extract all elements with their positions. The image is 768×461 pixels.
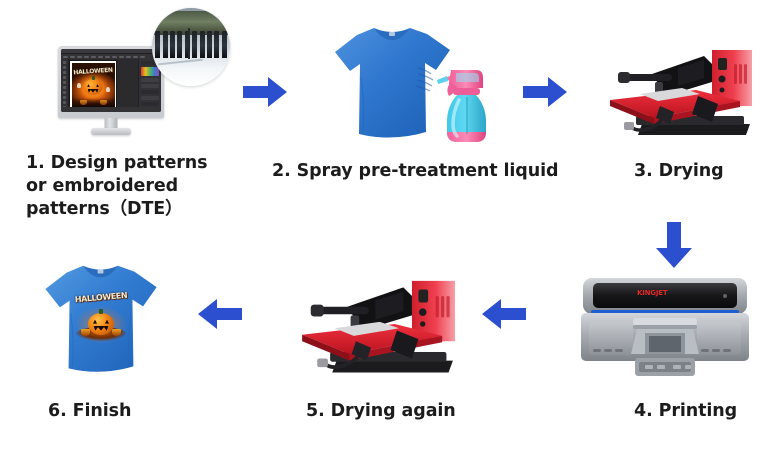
- embroidery-machine-photo: [152, 8, 230, 86]
- step-4-caption: 4. Printing: [634, 400, 764, 423]
- printer-brand-logo: KINGJET: [637, 289, 667, 297]
- step-1-monitor: ︿ ︿ HALLOWEEN: [58, 46, 164, 136]
- step-4-dtg-printer: KINGJET: [575, 270, 755, 384]
- step-1-caption: 1. Design patterns or embroidered patter…: [26, 152, 241, 221]
- monitor-screen: ︿ ︿ HALLOWEEN: [61, 49, 161, 112]
- step-3-caption: 3. Drying: [634, 160, 764, 183]
- app-canvas: ︿ ︿ HALLOWEEN: [70, 61, 116, 108]
- step-5-caption: 5. Drying again: [306, 400, 536, 423]
- step-2-caption: 2. Spray pre-treatment liquid: [272, 160, 572, 183]
- halloween-print-on-shirt: HALLOWEEN: [72, 290, 130, 348]
- arrow-step5-to-step6: [196, 296, 244, 332]
- app-tool-palette: [61, 59, 69, 107]
- step-6-caption: 6. Finish: [48, 400, 218, 423]
- arrow-step4-to-step5: [480, 296, 528, 332]
- monitor-stand-base: [91, 128, 131, 135]
- workflow-diagram: ︿ ︿ HALLOWEEN: [0, 0, 768, 461]
- arrow-step3-to-step4: [654, 220, 694, 270]
- step-3-heat-press: [600, 38, 760, 146]
- app-statusbar: [61, 107, 161, 112]
- arrow-step1-to-step2: [241, 74, 289, 110]
- arrow-step2-to-step3: [521, 74, 569, 110]
- step-5-heat-press: [290, 268, 465, 384]
- spray-bottle: [431, 62, 493, 151]
- halloween-artwork: ︿ ︿ HALLOWEEN: [72, 63, 115, 107]
- monitor-bezel: ︿ ︿ HALLOWEEN: [58, 46, 164, 118]
